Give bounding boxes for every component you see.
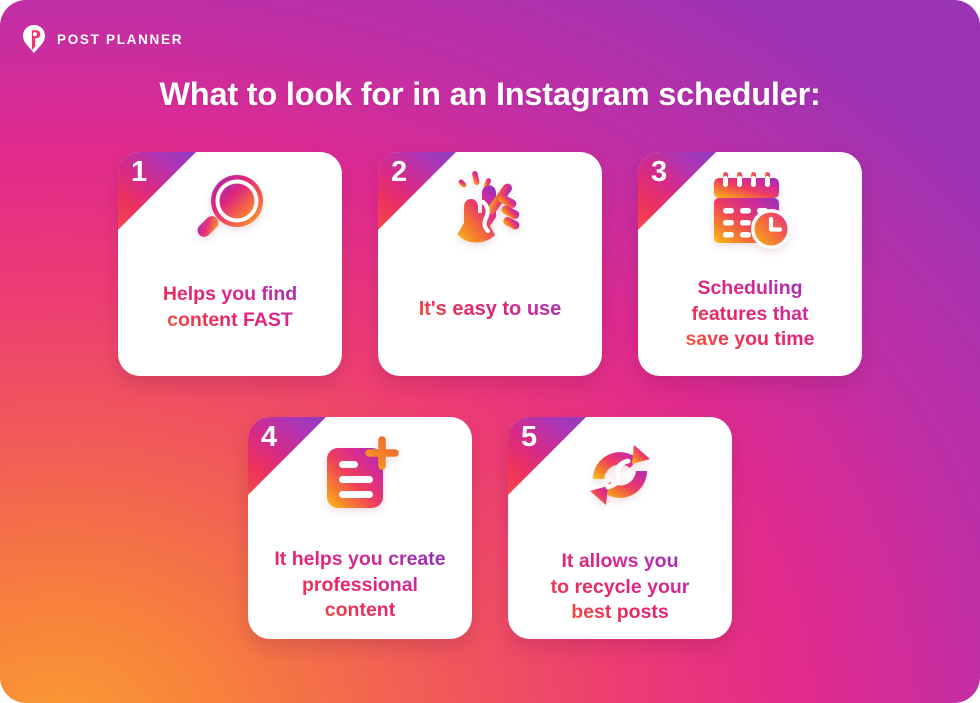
page-title: What to look for in an Instagram schedul…	[0, 76, 980, 113]
caption-line: features that	[646, 302, 854, 328]
caption-line: save you time	[646, 327, 854, 353]
feature-card-1[interactable]: 1	[118, 152, 342, 376]
card-caption: It's easy to use	[378, 296, 602, 322]
caption-line: It helps you create	[256, 547, 464, 573]
card-number: 5	[521, 423, 537, 452]
location-pin-icon	[20, 24, 48, 54]
card-number: 1	[131, 158, 147, 187]
card-caption: Scheduling features that save you time	[638, 276, 862, 353]
caption-line: to recycle your	[516, 575, 724, 601]
brand-logo: POST PLANNER	[20, 24, 183, 54]
card-caption: Helps you find content FAST	[118, 282, 342, 333]
caption-line: content FAST	[126, 308, 334, 334]
caption-line: best posts	[516, 600, 724, 626]
caption-line: content	[256, 598, 464, 624]
feature-card-4[interactable]: 4	[248, 417, 472, 639]
brand-name: POST PLANNER	[57, 32, 183, 47]
infographic-poster: POST PLANNER What to look for in an Inst…	[0, 0, 980, 703]
feature-card-5[interactable]: 5	[508, 417, 732, 639]
caption-line: professional	[256, 573, 464, 599]
card-number: 3	[651, 158, 667, 187]
card-number: 2	[391, 158, 407, 187]
card-caption: It helps you create professional content	[248, 547, 472, 624]
caption-line: Scheduling	[646, 276, 854, 302]
card-caption: It allows you to recycle your best posts	[508, 549, 732, 626]
card-row-bottom: 4	[0, 417, 980, 639]
feature-card-3[interactable]: 3	[638, 152, 862, 376]
caption-line: It allows you	[516, 549, 724, 575]
card-number: 4	[261, 423, 277, 452]
feature-card-2[interactable]: 2	[378, 152, 602, 376]
card-row-top: 1	[0, 152, 980, 376]
caption-line: Helps you find	[126, 282, 334, 308]
caption-line: It's easy to use	[386, 296, 594, 322]
